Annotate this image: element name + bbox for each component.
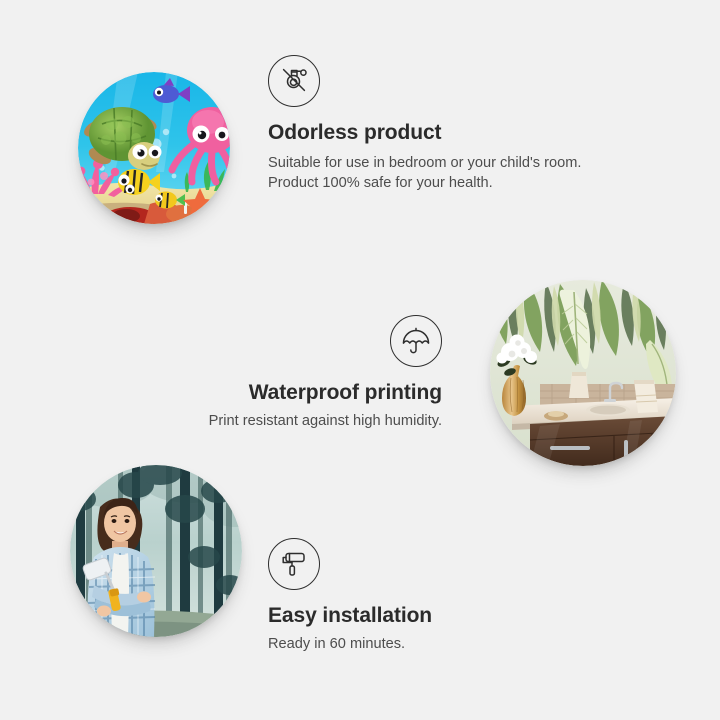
- feature-odorless: Odorless product Suitable for use in bed…: [268, 55, 608, 193]
- feature-installation-description: Ready in 60 minutes.: [268, 634, 588, 654]
- product-image-bathroom[interactable]: [490, 280, 676, 466]
- product-image-ocean[interactable]: [78, 72, 230, 224]
- product-image-forest[interactable]: [70, 465, 242, 637]
- feature-highlight-panel: Odorless product Suitable for use in bed…: [0, 0, 720, 720]
- feature-waterproof-description: Print resistant against high humidity.: [120, 411, 442, 431]
- feature-installation-title: Easy installation: [268, 603, 588, 628]
- feature-odorless-description: Suitable for use in bedroom or your chil…: [268, 153, 608, 193]
- umbrella-icon: [390, 315, 442, 367]
- feature-installation: Easy installation Ready in 60 minutes.: [268, 538, 588, 654]
- feature-waterproof-title: Waterproof printing: [120, 380, 442, 405]
- paint-roller-icon: [268, 538, 320, 590]
- feature-waterproof: Waterproof printing Print resistant agai…: [120, 315, 442, 431]
- forest-photo: [70, 465, 242, 637]
- bathroom-photo: [490, 280, 676, 466]
- ocean-illustration: [78, 72, 230, 224]
- no-odor-spray-bottle-icon: [268, 55, 320, 107]
- feature-odorless-title: Odorless product: [268, 120, 608, 145]
